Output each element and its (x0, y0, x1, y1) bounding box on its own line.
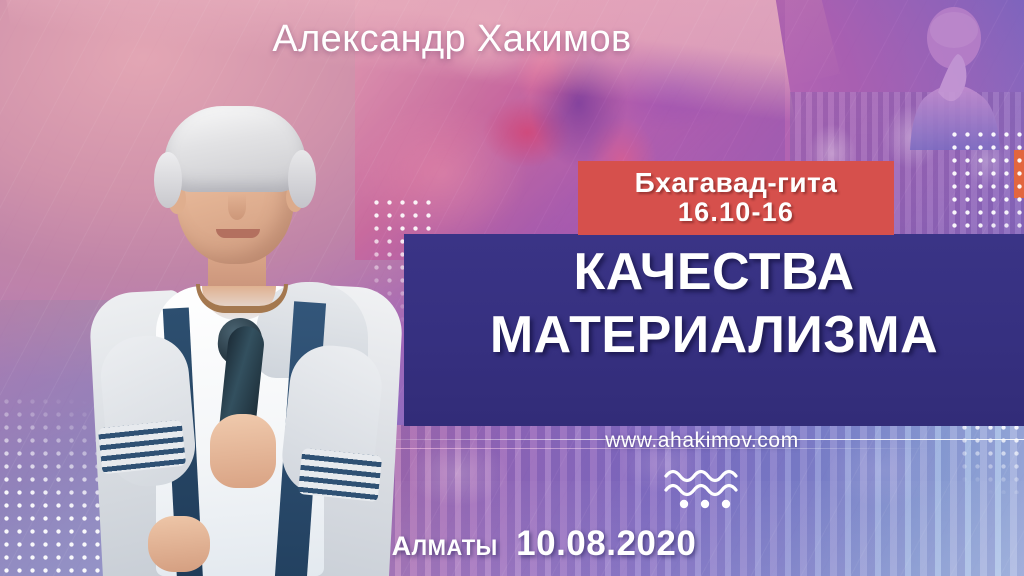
sleeve-cuff-right (298, 448, 382, 502)
wave-ornament-icon (662, 466, 748, 510)
nose (228, 194, 246, 220)
event-date: 10.08.2020 (516, 524, 696, 563)
neck-beads (196, 284, 288, 313)
scripture-verse-range: 16.10-16 (678, 198, 794, 228)
page-title-line-1: КАЧЕСТВА (404, 246, 1024, 299)
poster-canvas: Александр Хакимов Бхагавад-гита 16.10-16… (0, 0, 1024, 576)
page-title: КАЧЕСТВА МАТЕРИАЛИЗМА (404, 246, 1024, 362)
mouth (216, 229, 260, 238)
scripture-title: Бхагавад-гита (635, 168, 838, 197)
hair (164, 106, 306, 192)
city-initial: А (392, 531, 412, 561)
scripture-banner: Бхагавад-гита 16.10-16 (578, 161, 894, 235)
footer: АЛМАТЫ 10.08.2020 (0, 524, 1024, 564)
website-url[interactable]: www.ahakimov.com (0, 429, 1024, 453)
page-title-line-2: МАТЕРИАЛИЗМА (404, 309, 1024, 362)
speaker-photo (60, 96, 432, 576)
speaker-name: Александр Хакимов (0, 18, 1024, 61)
event-city: АЛМАТЫ (392, 531, 498, 561)
city-rest: ЛМАТЫ (412, 535, 498, 560)
